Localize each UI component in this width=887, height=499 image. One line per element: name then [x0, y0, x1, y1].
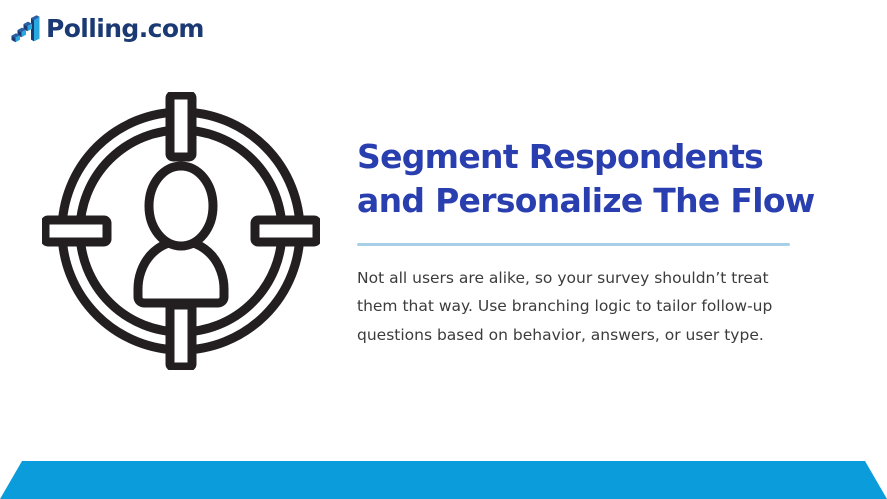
bar-chart-cubes-icon — [10, 12, 40, 44]
person-head — [149, 166, 213, 246]
footer-band-shape — [0, 461, 887, 499]
brand-wordmark: Polling.com — [46, 16, 204, 41]
text-content-block: Segment Respondents and Personalize The … — [357, 135, 857, 349]
target-audience-icon — [42, 92, 320, 370]
slide-canvas: Polling.com Segment Respondents and Pers… — [0, 0, 887, 499]
body-paragraph: Not all users are alike, so your survey … — [357, 264, 817, 349]
crosshair-tick-left — [45, 220, 107, 242]
crosshair-tick-right — [255, 220, 317, 242]
crosshair-tick-bottom — [170, 305, 192, 367]
title-divider — [357, 243, 790, 246]
footer-band — [0, 461, 887, 499]
brand-logo[interactable]: Polling.com — [10, 10, 204, 46]
crosshair-tick-top — [170, 95, 192, 157]
page-title: Segment Respondents and Personalize The … — [357, 135, 857, 222]
